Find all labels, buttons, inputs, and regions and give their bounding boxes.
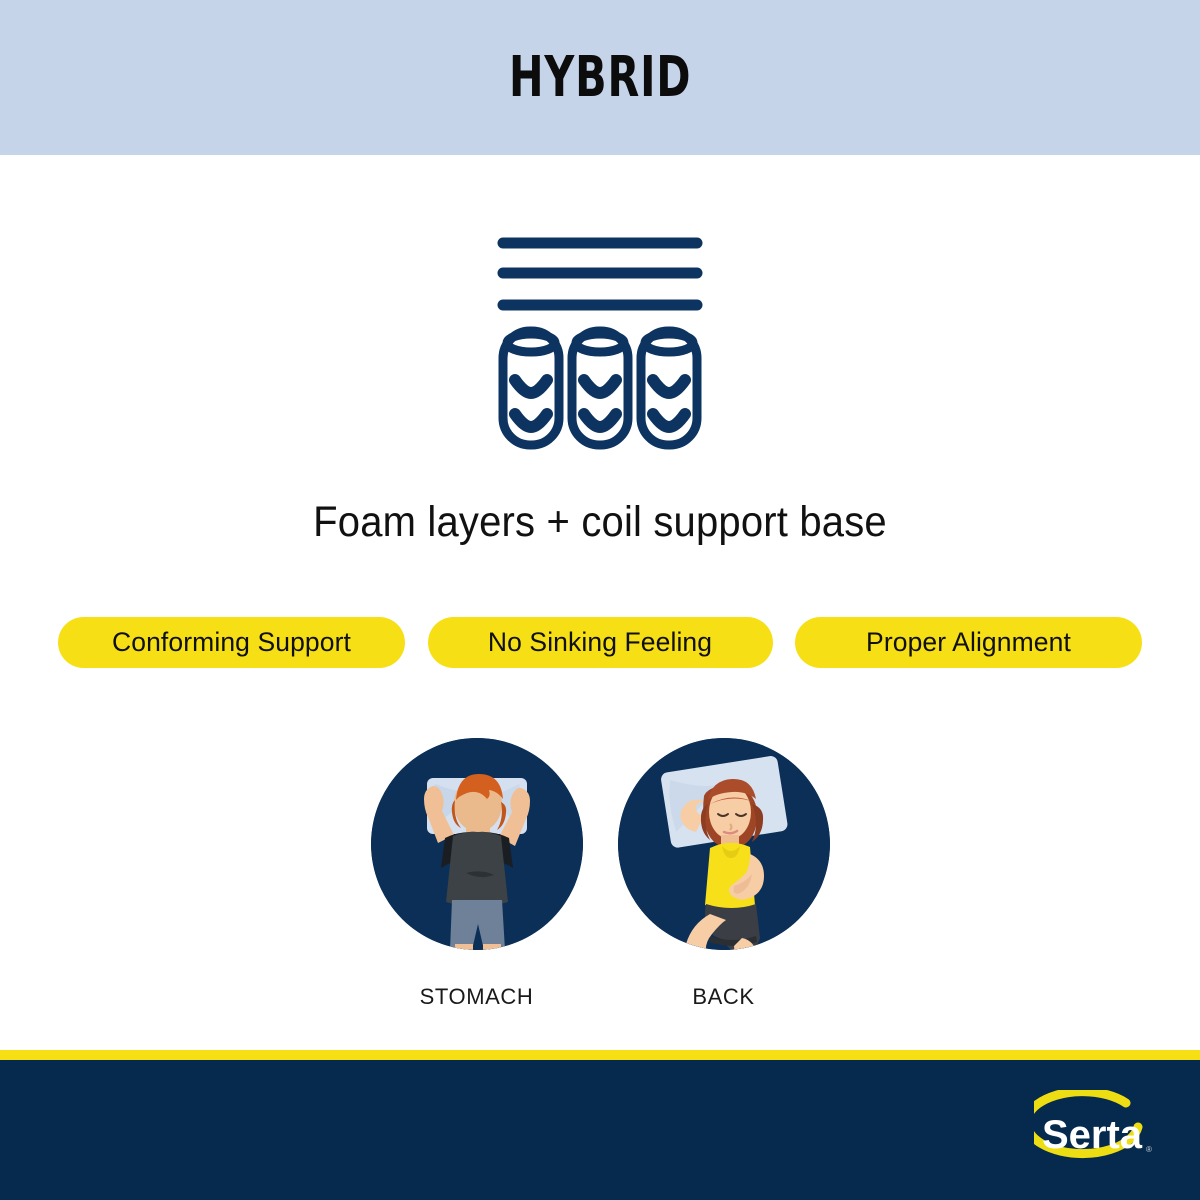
footer-bar <box>0 1060 1200 1200</box>
svg-text:®: ® <box>1146 1145 1152 1154</box>
construction-description: Foam layers + coil support base <box>42 498 1158 547</box>
infographic-page: HYBRID <box>0 0 1200 1200</box>
sleep-position-label-back: BACK <box>692 984 754 1010</box>
sleep-position-row: STOMACH <box>0 738 1200 1010</box>
sleep-position-back[interactable]: BACK <box>618 738 830 1010</box>
feature-pill-no-sinking-feeling[interactable]: No Sinking Feeling <box>428 617 773 668</box>
hybrid-mattress-coils-icon <box>490 225 710 450</box>
page-title: HYBRID <box>509 45 691 110</box>
stomach-sleeper-illustration <box>371 738 583 950</box>
header-banner: HYBRID <box>0 0 1200 155</box>
feature-pill-proper-alignment[interactable]: Proper Alignment <box>795 617 1142 668</box>
sleep-position-label-stomach: STOMACH <box>420 984 534 1010</box>
feature-pill-row: Conforming Support No Sinking Feeling Pr… <box>58 617 1142 668</box>
serta-logo[interactable]: Serta ® <box>1034 1090 1162 1178</box>
footer-accent-stripe <box>0 1050 1200 1060</box>
sleep-position-stomach[interactable]: STOMACH <box>371 738 583 1010</box>
feature-pill-conforming-support[interactable]: Conforming Support <box>58 617 405 668</box>
back-sleeper-illustration <box>618 738 830 950</box>
serta-logo-wordmark: Serta <box>1042 1113 1143 1157</box>
